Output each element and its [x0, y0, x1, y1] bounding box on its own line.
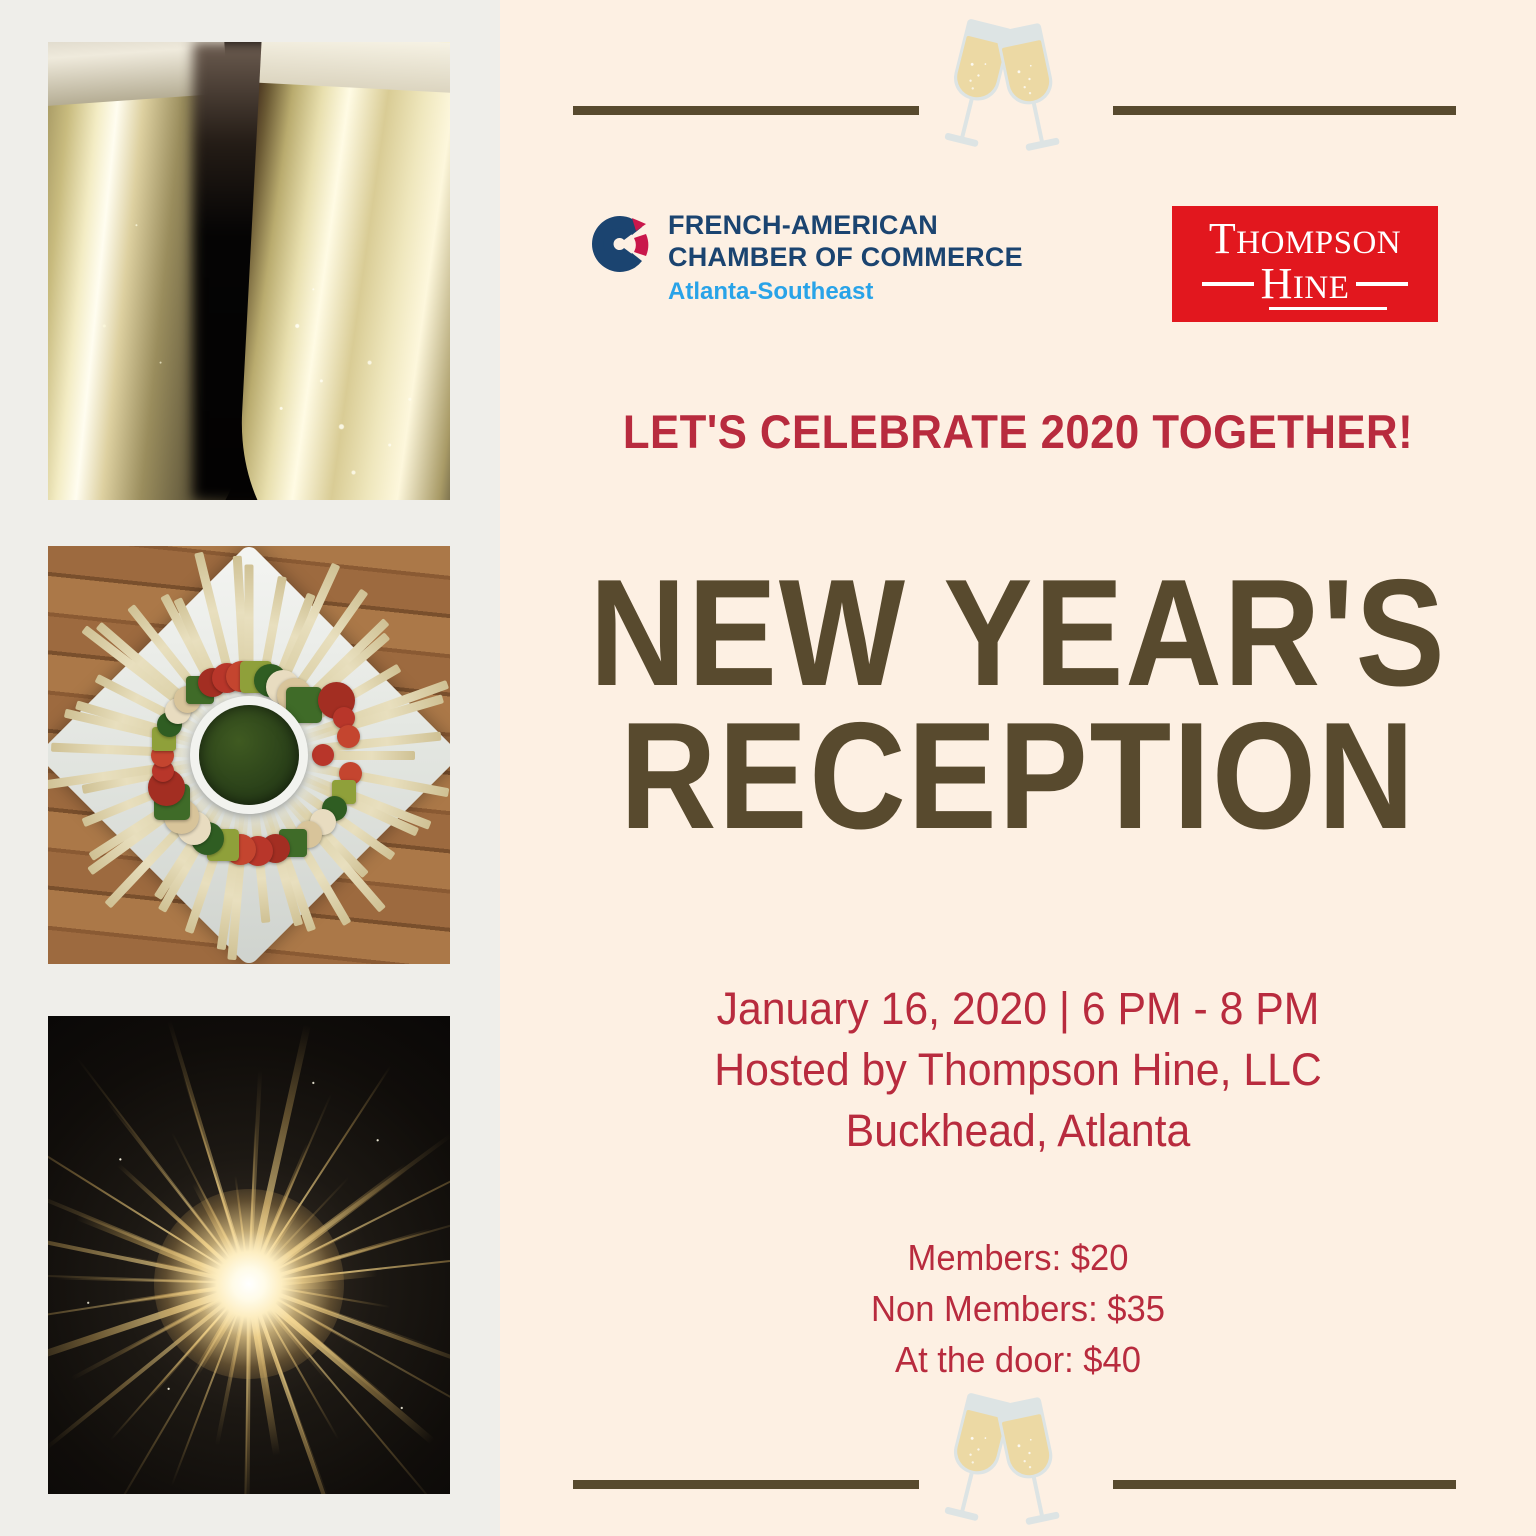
- caprese-skewers-photo: [48, 546, 450, 964]
- content-panel: FRENCH-AMERICAN CHAMBER OF COMMERCE Atla…: [500, 0, 1536, 1536]
- facc-line-1: FRENCH-AMERICAN: [668, 210, 1023, 242]
- sparkler-specks: [48, 1016, 450, 1494]
- divider-rule-right: [1113, 106, 1456, 115]
- thompson-hine-logo: THOMPSON HINE: [1172, 206, 1438, 322]
- event-host: Hosted by Thompson Hine, LLC: [526, 1039, 1510, 1100]
- title-line-2: RECEPTION: [562, 705, 1474, 848]
- facc-subtitle: Atlanta-Southeast: [668, 276, 1023, 307]
- logo-rule-right: [1356, 282, 1408, 286]
- event-datetime: January 16, 2020 | 6 PM - 8 PM: [526, 978, 1510, 1039]
- logo-rule-left: [1202, 282, 1254, 286]
- bottom-decor-band: [500, 1386, 1536, 1536]
- hine-wordmark: HINE: [1261, 263, 1350, 305]
- event-details: January 16, 2020 | 6 PM - 8 PM Hosted by…: [526, 978, 1510, 1162]
- cci-circle-mark: [588, 212, 652, 276]
- title-line-1: NEW YEAR'S: [562, 562, 1474, 705]
- pesto-bowl: [190, 696, 308, 814]
- french-american-chamber-logo: FRENCH-AMERICAN CHAMBER OF COMMERCE Atla…: [588, 206, 1023, 307]
- photo-column: [0, 0, 500, 1536]
- event-location: Buckhead, Atlanta: [526, 1100, 1510, 1161]
- logo-row: FRENCH-AMERICAN CHAMBER OF COMMERCE Atla…: [500, 196, 1536, 336]
- divider-rule-left-bottom: [573, 1480, 919, 1489]
- champagne-toast-icon-bottom: [938, 1392, 1098, 1524]
- sparkler-photo: [48, 1016, 450, 1494]
- kicker-headline: LET'S CELEBRATE 2020 TOGETHER!: [536, 404, 1499, 459]
- event-flyer: FRENCH-AMERICAN CHAMBER OF COMMERCE Atla…: [0, 0, 1536, 1536]
- hine-wordmark-row: HINE: [1202, 263, 1409, 305]
- divider-rule-left: [573, 106, 919, 115]
- price-non-members: Non Members: $35: [521, 1283, 1516, 1334]
- champagne-glasses-photo: [48, 42, 450, 500]
- toast-flute-right: [995, 23, 1067, 158]
- price-members: Members: $20: [521, 1232, 1516, 1283]
- divider-rule-right-bottom: [1113, 1480, 1456, 1489]
- champagne-toast-icon: [938, 18, 1098, 150]
- facc-line-2: CHAMBER OF COMMERCE: [668, 242, 1023, 274]
- top-decor-band: [500, 0, 1536, 150]
- pricing-block: Members: $20 Non Members: $35 At the doo…: [521, 1232, 1516, 1385]
- thompson-wordmark: THOMPSON: [1209, 218, 1401, 260]
- champagne-bubbles: [48, 42, 450, 500]
- price-at-door: At the door: $40: [521, 1334, 1516, 1385]
- toast-flute-right-bottom: [995, 1397, 1067, 1532]
- page-title: NEW YEAR'S RECEPTION: [500, 562, 1536, 848]
